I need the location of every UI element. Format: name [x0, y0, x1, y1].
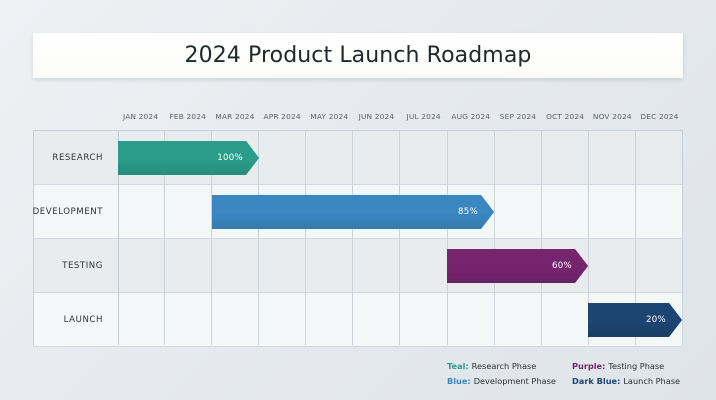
gantt-bar-research[interactable]: 100%	[118, 141, 259, 175]
month-tick-label: JAN 2024	[117, 107, 164, 125]
legend-item-development: Blue: Development Phase	[447, 373, 572, 388]
legend-label-research: Research Phase	[472, 361, 537, 371]
gantt-bar-testing[interactable]: 60%	[447, 249, 588, 283]
gantt-bar-progress-label: 85%	[458, 207, 478, 217]
gantt-bars-layer: 100% 85% 60% 20%	[34, 131, 682, 345]
month-tick-label: DEC 2024	[636, 107, 683, 125]
legend-label-launch: Launch Phase	[623, 376, 680, 386]
legend-label-testing: Testing Phase	[608, 361, 664, 371]
month-tick-label: SEP 2024	[494, 107, 541, 125]
month-tick-label: JUN 2024	[353, 107, 400, 125]
month-tick-label: FEB 2024	[164, 107, 211, 125]
month-tick-label: JUL 2024	[400, 107, 447, 125]
month-tick-label: AUG 2024	[447, 107, 494, 125]
gantt-bar-progress-label: 60%	[552, 261, 572, 271]
legend-label-development: Development Phase	[474, 376, 556, 386]
month-tick-label: MAR 2024	[211, 107, 258, 125]
legend-item-testing: Purple: Testing Phase	[572, 358, 687, 373]
gantt-bar-progress-label: 20%	[646, 315, 666, 325]
gantt-bar-progress-label: 100%	[217, 153, 243, 163]
gantt-bar-launch[interactable]: 20%	[588, 303, 682, 337]
month-tick-label: APR 2024	[259, 107, 306, 125]
gantt-bar-development[interactable]: 85%	[212, 195, 494, 229]
legend-item-launch: Dark Blue: Launch Phase	[572, 373, 687, 388]
chart-legend: Teal: Research Phase Blue: Development P…	[447, 358, 687, 388]
chart-title-card: 2024 Product Launch Roadmap	[33, 33, 683, 78]
legend-key-dark-blue: Dark Blue:	[572, 376, 620, 386]
month-tick-label: NOV 2024	[589, 107, 636, 125]
month-tick-label: MAY 2024	[306, 107, 353, 125]
month-axis-header: JAN 2024 FEB 2024 MAR 2024 APR 2024 MAY …	[117, 107, 683, 125]
legend-key-teal: Teal:	[447, 361, 469, 371]
legend-key-blue: Blue:	[447, 376, 471, 386]
month-tick-label: OCT 2024	[542, 107, 589, 125]
gantt-grid-panel: RESEARCH DEVELOPMENT TESTING LAUNCH 100%…	[33, 130, 683, 346]
legend-item-research: Teal: Research Phase	[447, 358, 572, 373]
page-title: 2024 Product Launch Roadmap	[185, 43, 532, 68]
gantt-chart-root: 2024 Product Launch Roadmap JAN 2024 FEB…	[0, 0, 716, 400]
legend-key-purple: Purple:	[572, 361, 605, 371]
